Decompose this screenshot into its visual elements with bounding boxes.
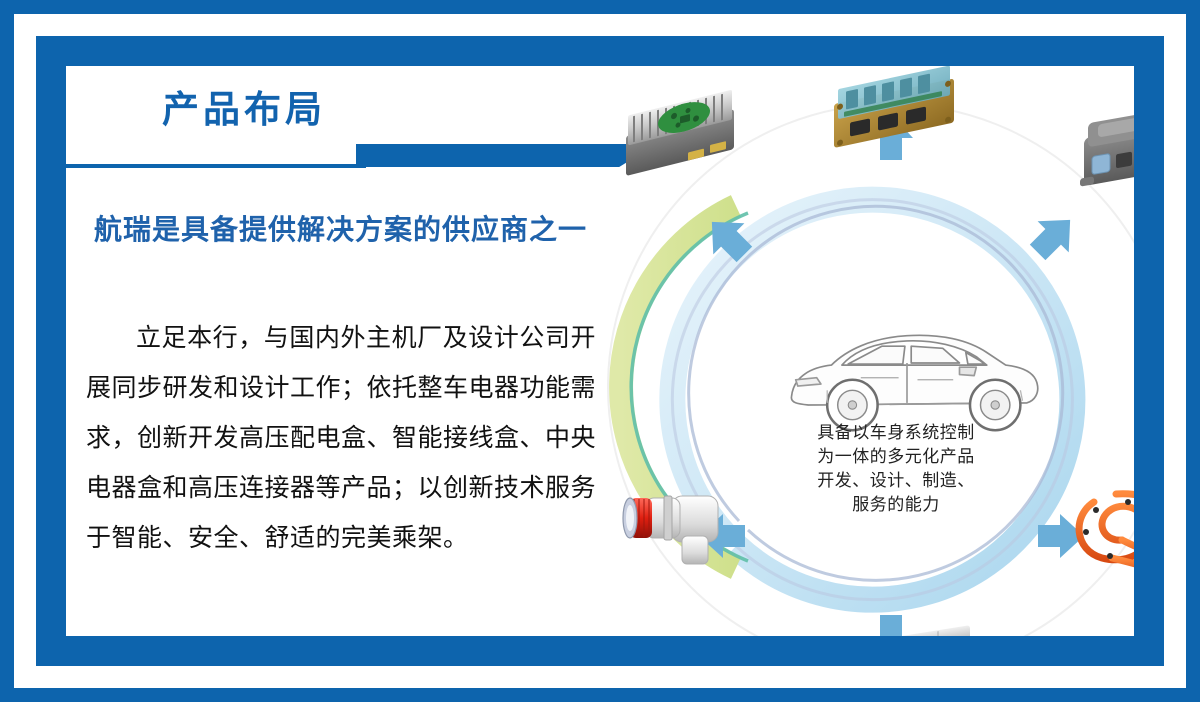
subtitle: 航瑞是具备提供解决方案的供应商之一 bbox=[94, 208, 587, 248]
center-caption-line-3: 开发、设计、制造、 bbox=[781, 469, 1011, 493]
center-caption-line-4: 服务的能力 bbox=[781, 493, 1011, 517]
body-paragraph: 立足本行，与国内外主机厂及设计公司开展同步研发和设计工作；依托整车电器功能需求，… bbox=[86, 314, 596, 564]
slide-root: 产品布局 航瑞是具备提供解决方案的供应商之一 立足本行，与国内外主机厂及设计公司… bbox=[0, 0, 1200, 702]
frame-white-gap: 产品布局 航瑞是具备提供解决方案的供应商之一 立足本行，与国内外主机厂及设计公司… bbox=[14, 14, 1186, 688]
page-title: 产品布局 bbox=[162, 88, 326, 132]
center-caption-line-1: 具备以车身系统控制 bbox=[781, 421, 1011, 445]
center-caption-line-2: 为一体的多元化产品 bbox=[781, 445, 1011, 469]
slide-canvas: 产品布局 航瑞是具备提供解决方案的供应商之一 立足本行，与国内外主机厂及设计公司… bbox=[66, 66, 1134, 636]
title-underline-rule bbox=[66, 164, 366, 168]
frame-inner-border: 产品布局 航瑞是具备提供解决方案的供应商之一 立足本行，与国内外主机厂及设计公司… bbox=[36, 36, 1164, 666]
center-caption: 具备以车身系统控制 为一体的多元化产品 开发、设计、制造、 服务的能力 bbox=[781, 421, 1011, 517]
gray-junction-box bbox=[1080, 106, 1134, 186]
sedan-car-illustration bbox=[791, 335, 1037, 430]
arrow-down-hv-box bbox=[869, 615, 913, 636]
product-layout-diagram: 具备以车身系统控制 为一体的多元化产品 开发、设计、制造、 服务的能力 bbox=[576, 66, 1134, 636]
red-white-hv-connector bbox=[623, 496, 718, 564]
